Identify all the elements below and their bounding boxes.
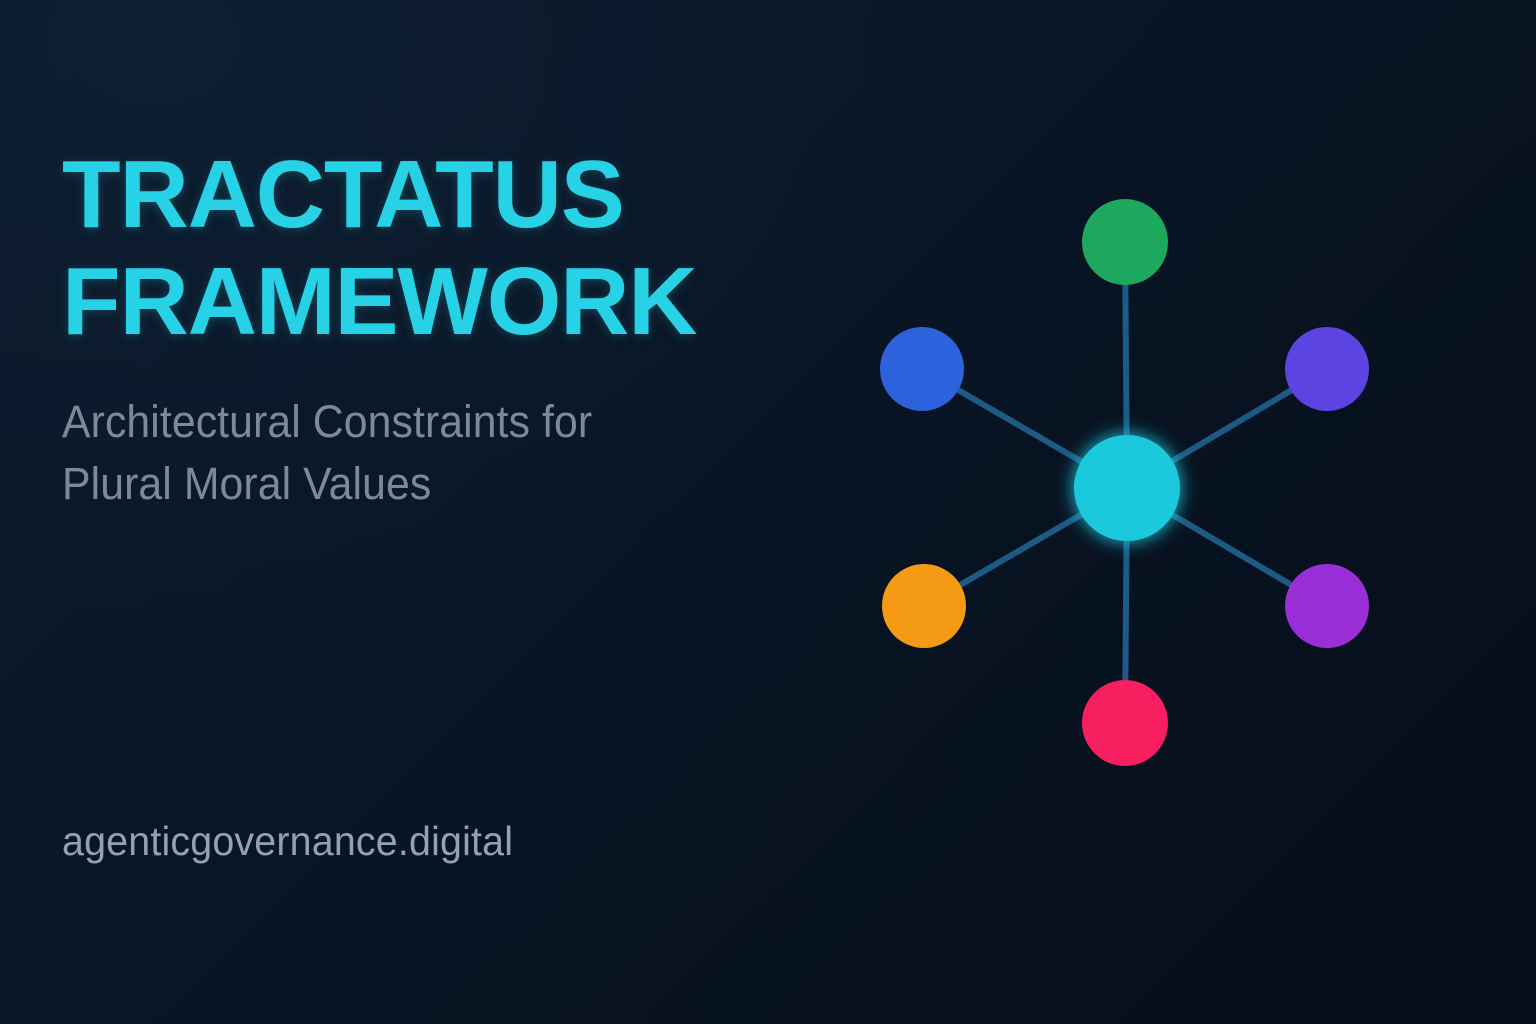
slide-canvas: TRACTATUS FRAMEWORK Architectural Constr… (0, 0, 1536, 1024)
page-subtitle: Architectural Constraints for Plural Mor… (62, 391, 765, 515)
node-rose-bottom[interactable] (1082, 680, 1168, 766)
center-node[interactable] (1074, 435, 1180, 541)
node-indigo-upper-right[interactable] (1285, 327, 1369, 411)
page-subtitle-line-1: Architectural Constraints for (62, 391, 765, 453)
node-purple-lower-right[interactable] (1285, 564, 1369, 648)
node-blue-upper-left[interactable] (880, 327, 964, 411)
page-title: TRACTATUS FRAMEWORK (62, 142, 822, 355)
page-title-line-1: TRACTATUS (62, 141, 624, 248)
page-subtitle-line-2: Plural Moral Values (62, 453, 765, 515)
node-orange-lower-left[interactable] (882, 564, 966, 648)
page-title-line-2: FRAMEWORK (62, 248, 696, 355)
site-url-label: agenticgovernance.digital (62, 818, 513, 865)
node-green-top[interactable] (1082, 199, 1168, 285)
hero-text-block: TRACTATUS FRAMEWORK Architectural Constr… (62, 142, 822, 515)
diagram-nodes (880, 199, 1369, 766)
